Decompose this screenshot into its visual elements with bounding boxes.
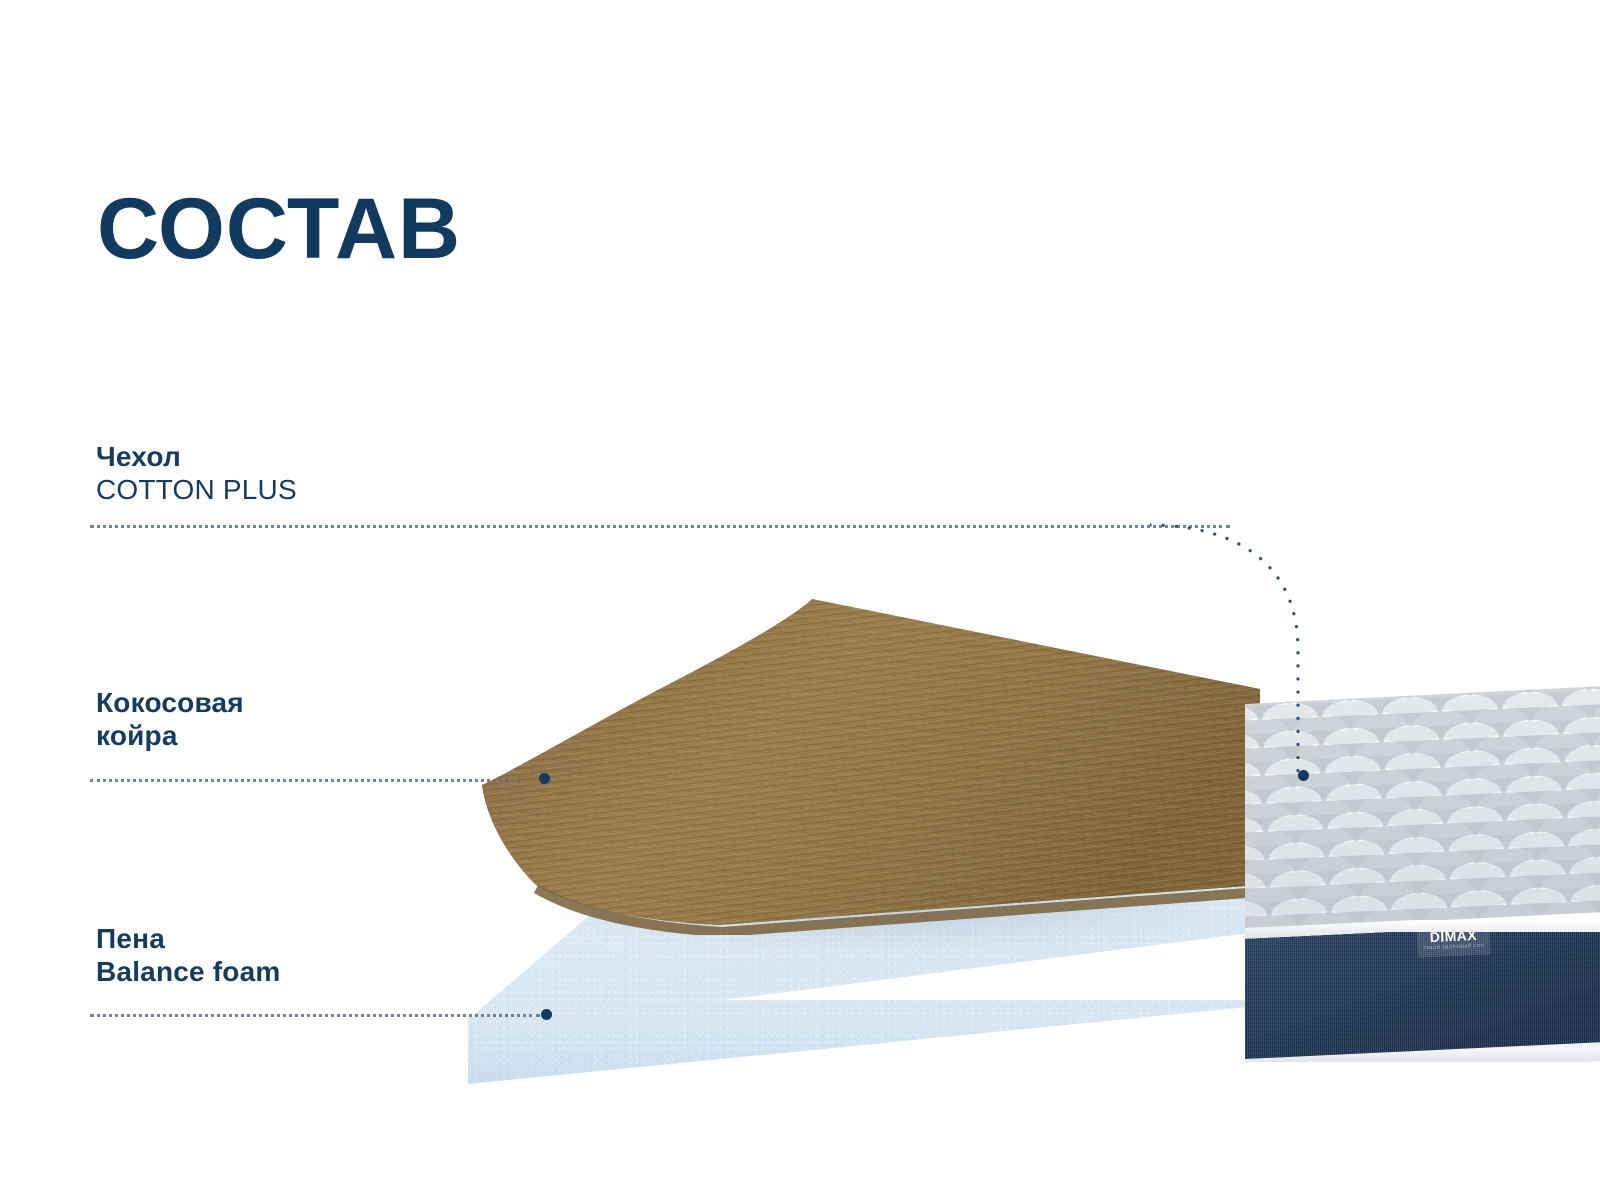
callout-coir: Кокосовая койра: [96, 686, 244, 752]
infographic-canvas: DIMAX ТАКОЙ ЗДОРОВЫЙ СОН СОСТАВ Чехол CO…: [0, 0, 1600, 1201]
quilt-shading: [1245, 686, 1600, 931]
mattress-cover-quilted-top: [1245, 686, 1600, 931]
callout-foam-line1: Пена: [96, 922, 280, 955]
leader-line-foam: [90, 1014, 540, 1017]
callout-coir-line2: койра: [96, 719, 244, 752]
leader-dot-foam: [541, 1009, 552, 1020]
dimax-wordmark: DIMAX: [1429, 928, 1477, 944]
callout-cover-line1: Чехол: [96, 440, 297, 473]
callout-foam-line2: Balance foam: [96, 955, 280, 988]
callout-coir-line1: Кокосовая: [96, 686, 244, 719]
leader-line-coir: [90, 779, 520, 782]
dimax-tagline: ТАКОЙ ЗДОРОВЫЙ СОН: [1423, 944, 1484, 951]
foam-texture-front: [468, 1012, 1258, 1092]
leader-dot-coir: [539, 773, 550, 784]
page-title: СОСТАВ: [97, 186, 461, 272]
foam-layer-front-face: [468, 1012, 1258, 1092]
dimax-brand-badge: DIMAX ТАКОЙ ЗДОРОВЫЙ СОН: [1416, 921, 1490, 957]
coir-shading: [482, 599, 1260, 925]
callout-cover: Чехол COTTON PLUS: [96, 440, 297, 506]
callout-cover-line2: COTTON PLUS: [96, 473, 297, 506]
callout-foam: Пена Balance foam: [96, 922, 280, 988]
leader-line-cover: [90, 525, 1230, 528]
coconut-coir-layer: [460, 585, 1260, 935]
leader-dot-cover: [1298, 770, 1309, 781]
